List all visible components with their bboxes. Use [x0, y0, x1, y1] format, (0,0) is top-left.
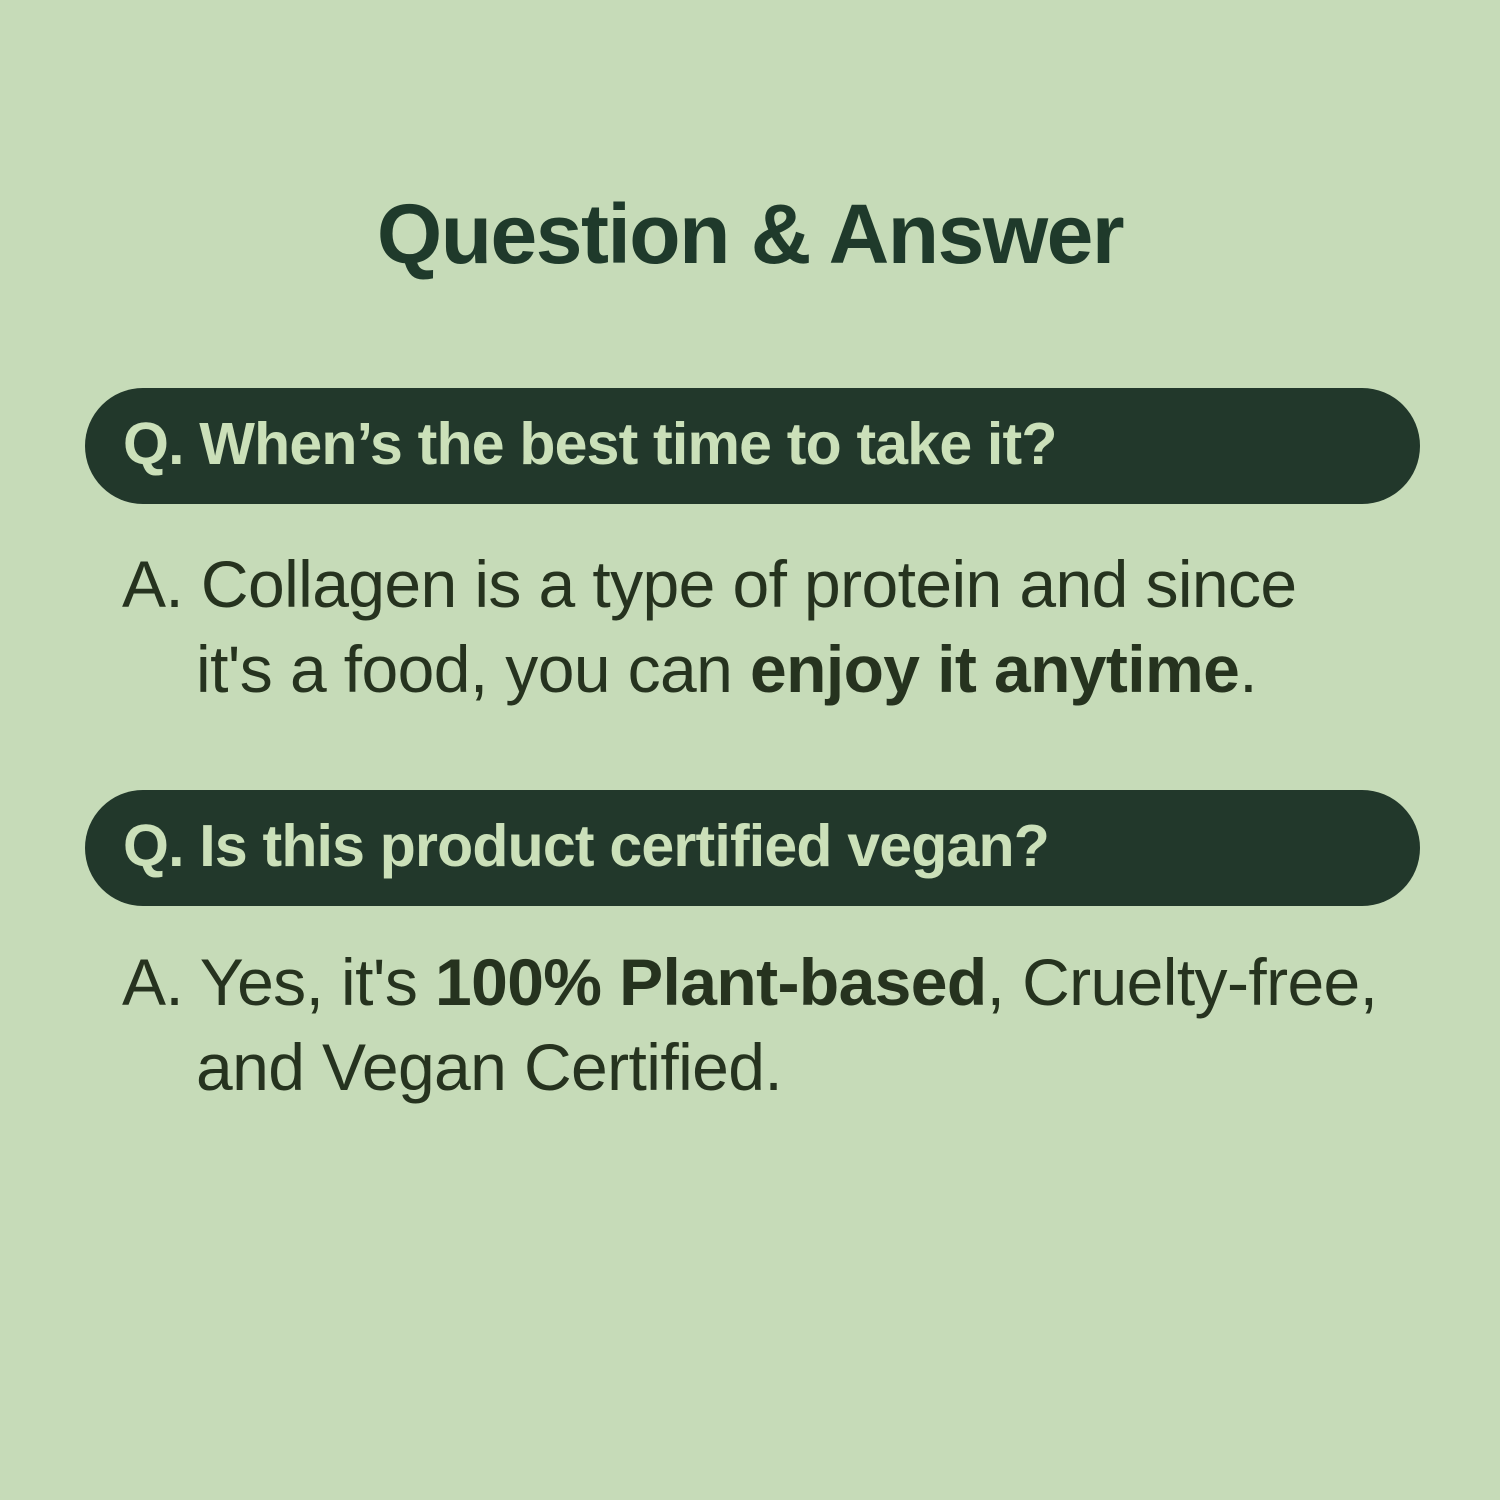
qa-list: Q. When’s the best time to take it? A. C… [0, 388, 1500, 1110]
answer-text: A. Yes, it's 100% Plant-based, Cruelty-f… [122, 940, 1380, 1110]
question-text: Q. When’s the best time to take it? [123, 415, 1057, 474]
qa-page: Question & Answer Q. When’s the best tim… [0, 0, 1500, 1500]
page-title: Question & Answer [0, 188, 1500, 280]
question-pill[interactable]: Q. Is this product certified vegan? [85, 790, 1420, 906]
answer-text: A. Collagen is a type of protein and sin… [122, 542, 1380, 712]
qa-item: Q. Is this product certified vegan? A. Y… [0, 790, 1500, 1110]
answer-emphasis: enjoy it anytime [750, 632, 1239, 706]
qa-item: Q. When’s the best time to take it? A. C… [0, 388, 1500, 712]
answer-segment: . [1239, 632, 1257, 706]
question-pill[interactable]: Q. When’s the best time to take it? [85, 388, 1420, 504]
question-text: Q. Is this product certified vegan? [123, 817, 1049, 876]
answer-emphasis: 100% Plant-based [435, 945, 987, 1019]
answer-segment: A. Yes, it's [122, 945, 435, 1019]
